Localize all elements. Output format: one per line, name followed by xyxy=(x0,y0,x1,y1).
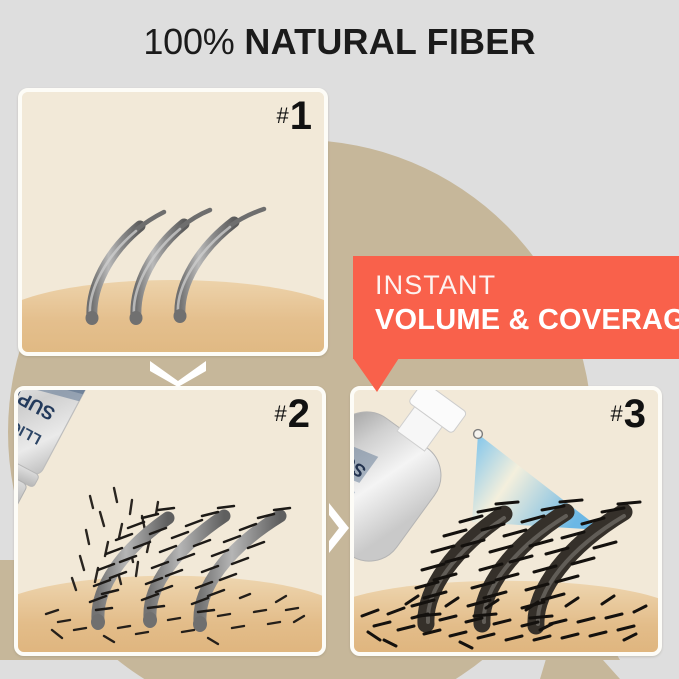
page-title: 100% NATURAL FIBER xyxy=(0,22,679,62)
panel-number-hash: # xyxy=(611,401,623,426)
arrow-step2-to-step3 xyxy=(326,500,352,556)
panel-number-hash: # xyxy=(275,401,287,426)
scalp-surface xyxy=(22,280,324,352)
panel-number-value: 1 xyxy=(290,94,312,138)
title-main: NATURAL FIBER xyxy=(244,21,535,62)
panel-number-value: 3 xyxy=(624,392,646,436)
spray-nozzle xyxy=(474,430,483,439)
arrow-step1-to-step2 xyxy=(146,357,210,387)
promo-banner-tail xyxy=(353,358,399,392)
step-panel-1[interactable]: #1 xyxy=(18,88,328,356)
panel-number-hash: # xyxy=(277,103,289,128)
promo-banner-text: INSTANT VOLUME & COVERAGE xyxy=(375,270,679,338)
panel-number-1: #1 xyxy=(277,96,313,136)
promo-banner: INSTANT VOLUME & COVERAGE xyxy=(353,256,679,359)
panel-number-3: #3 xyxy=(611,394,647,434)
infographic-canvas: 100% NATURAL FIBER xyxy=(0,0,679,679)
title-percent: 100% xyxy=(143,21,234,62)
panel-number-value: 2 xyxy=(288,392,310,436)
panel-number-2: #2 xyxy=(275,394,311,434)
step-panel-2[interactable]: SUPER MI LLION HAIR xyxy=(14,386,326,656)
promo-banner-line1: INSTANT xyxy=(375,270,679,300)
step-panel-3[interactable]: SUPE AH xyxy=(350,386,662,656)
promo-banner-line2: VOLUME & COVERAGE xyxy=(375,302,679,338)
